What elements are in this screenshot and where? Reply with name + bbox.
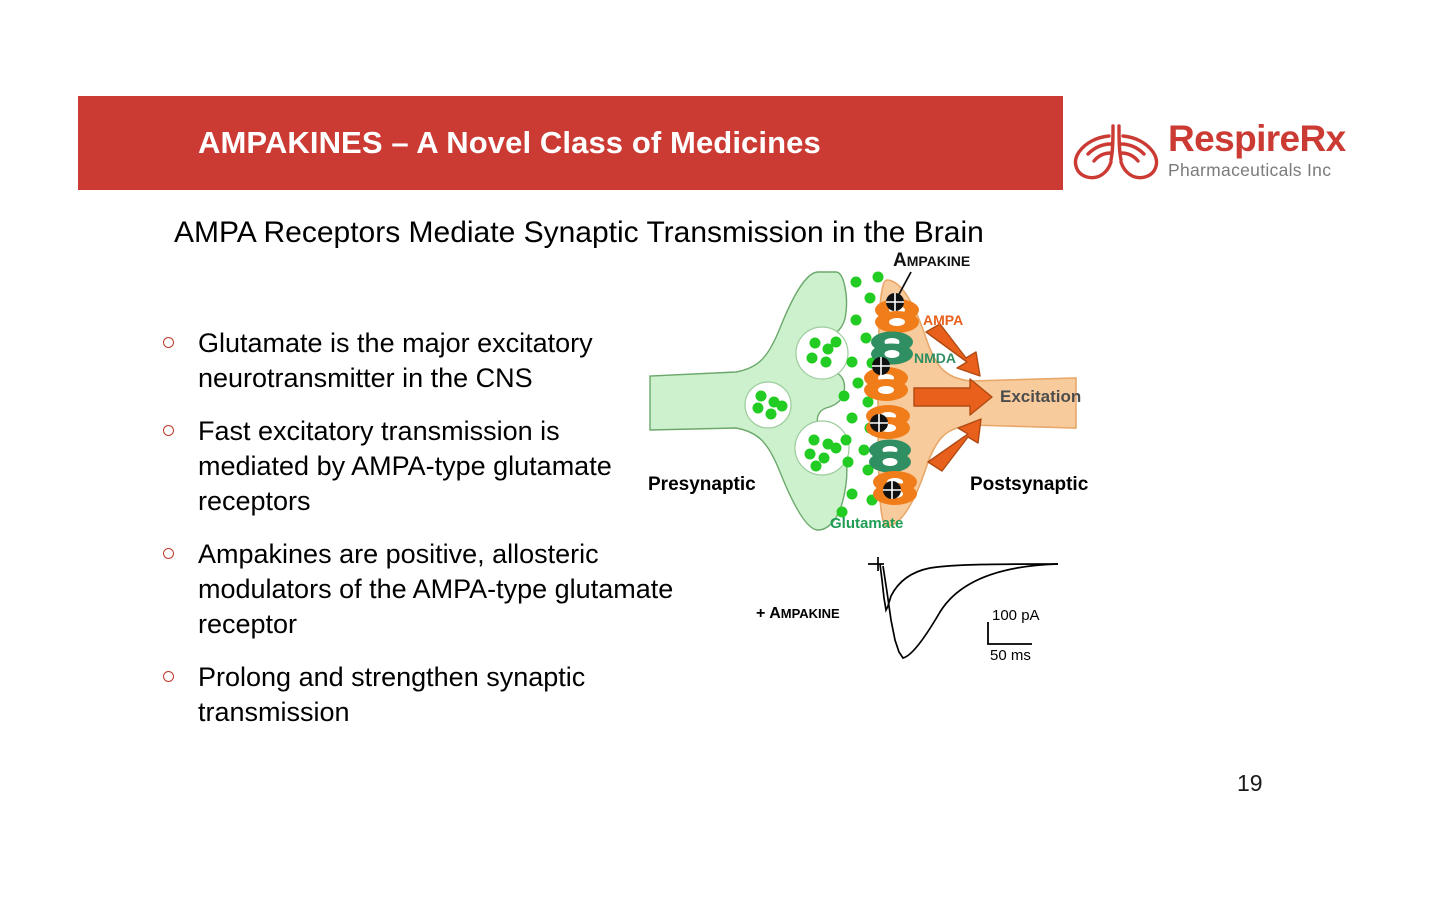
scale-bar xyxy=(988,622,1032,644)
page-title: AMPAKINES – A Novel Class of Medicines xyxy=(198,124,1038,162)
bullet-marker-icon xyxy=(163,671,174,682)
lungs-icon xyxy=(1068,122,1164,184)
page-number: 19 xyxy=(1237,770,1263,797)
logo-name: RespireRx xyxy=(1168,118,1363,159)
ampakine-label: AMPAKINE xyxy=(893,250,970,271)
list-item-text: Prolong and strengthen synaptic transmis… xyxy=(198,662,585,727)
trace-baseline-marker xyxy=(868,557,884,571)
nmda-receptor xyxy=(869,440,911,473)
synapse-diagram: AMPAKINE AMPA NMDA Excitation Presynapti… xyxy=(640,250,1100,545)
list-item: Fast excitatory transmission is mediated… xyxy=(158,414,678,519)
bullet-list: Glutamate is the major excitatory neurot… xyxy=(158,326,678,748)
bullet-marker-icon xyxy=(163,548,174,559)
glutamate-label: Glutamate xyxy=(830,515,903,532)
scale-bar-current-label: 100 pA xyxy=(992,607,1040,624)
logo-wordmark: RespireRx Pharmaceuticals Inc xyxy=(1168,118,1363,181)
bullet-marker-icon xyxy=(163,425,174,436)
list-item: Prolong and strengthen synaptic transmis… xyxy=(158,660,678,730)
bullet-marker-icon xyxy=(163,337,174,348)
ampa-label: AMPA xyxy=(923,312,963,328)
list-item-text: Glutamate is the major excitatory neurot… xyxy=(198,328,593,393)
postsynaptic-label: Postsynaptic xyxy=(970,474,1089,495)
list-item: Glutamate is the major excitatory neurot… xyxy=(158,326,678,396)
company-logo: RespireRx Pharmaceuticals Inc xyxy=(1068,118,1360,194)
presynaptic-label: Presynaptic xyxy=(648,474,756,495)
list-item-text: Ampakines are positive, allosteric modul… xyxy=(198,539,673,639)
list-item: Ampakines are positive, allosteric modul… xyxy=(158,537,678,642)
logo-tagline: Pharmaceuticals Inc xyxy=(1168,160,1363,181)
nmda-label: NMDA xyxy=(914,350,956,366)
excitation-label: Excitation xyxy=(1000,387,1081,406)
slide-subtitle: AMPA Receptors Mediate Synaptic Transmis… xyxy=(174,216,984,250)
list-item-text: Fast excitatory transmission is mediated… xyxy=(198,416,612,516)
trace-condition-label: + AMPAKINE xyxy=(756,605,840,622)
ampakine-current-trace-figure: + AMPAKINE 100 pA 50 ms xyxy=(740,540,1080,680)
scale-bar-time-label: 50 ms xyxy=(990,647,1031,664)
trace-control xyxy=(880,564,1058,610)
